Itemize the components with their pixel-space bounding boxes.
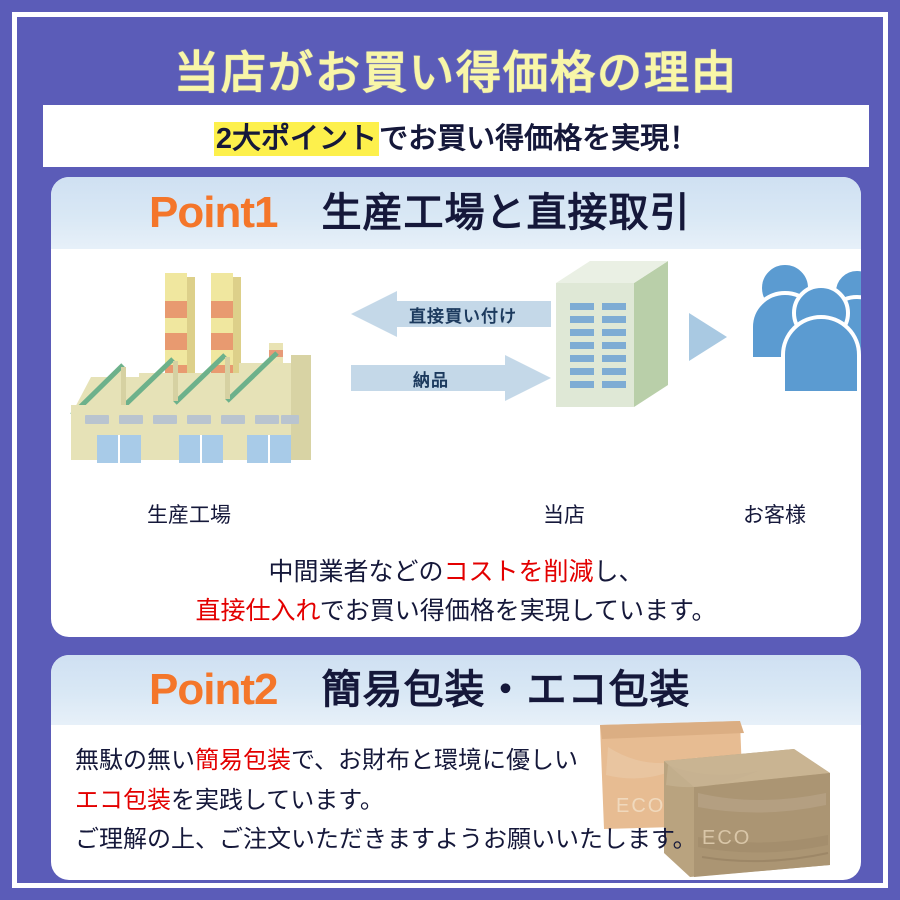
title-band: 当店がお買い得価格の理由 xyxy=(43,31,869,105)
p2-l1-red: 簡易包装 xyxy=(195,747,291,774)
point2-line3: ご理解の上、ご注文いただきますようお願いいたします。 xyxy=(75,820,861,860)
subtitle: 2大ポイントでお買い得価格を実現！ xyxy=(214,115,698,157)
point2-title: 簡易包装・エコ包装 xyxy=(321,670,690,710)
point1-label: Point1 xyxy=(149,191,277,235)
caption-factory: 生産工場 xyxy=(147,499,231,529)
delivery-arrow-label: 納品 xyxy=(351,355,551,401)
subtitle-band: 2大ポイントでお買い得価格を実現！ xyxy=(43,105,869,167)
subtitle-highlight: 2大ポイント xyxy=(214,122,379,156)
point2-text: 無駄の無い簡易包装で、お財布と環境に優しい エコ包装を実践しています。 ご理解の… xyxy=(75,741,861,860)
point1-description: 中間業者などのコストを削減し、 直接仕入れでお買い得価格を実現しています。 xyxy=(51,553,861,631)
point1-title: 生産工場と直接取引 xyxy=(321,193,690,233)
point1-description-line1: 中間業者などのコストを削減し、 xyxy=(51,553,861,592)
poster-stage: 当店がお買い得価格の理由 2大ポイントでお買い得価格を実現！ Point1 生産… xyxy=(17,17,895,895)
diagram-captions: 生産工場 当店 お客様 xyxy=(51,499,861,539)
p2-l1-pre: 無駄の無い xyxy=(75,747,195,774)
subtitle-rest: でお買い得価格を実現！ xyxy=(379,123,698,155)
buy-direct-arrow: 直接買い付け xyxy=(351,291,551,337)
caption-customer: お客様 xyxy=(743,499,806,529)
point2-header: Point2 簡易包装・エコ包装 xyxy=(51,655,861,725)
point1-header: Point1 生産工場と直接取引 xyxy=(51,177,861,249)
p1-l2-post: でお買い得価格を実現しています。 xyxy=(320,597,717,625)
p1-l2-red: 直接仕入れ xyxy=(195,597,319,625)
poster-inner-frame: 当店がお買い得価格の理由 2大ポイントでお買い得価格を実現！ Point1 生産… xyxy=(12,12,888,888)
buy-direct-arrow-label: 直接買い付け xyxy=(351,291,551,337)
point2-body: ECO ECO 無駄の無い簡易包装で、お財布と環境に優しい エコ包装を実践してい… xyxy=(51,725,861,880)
delivery-arrow: 納品 xyxy=(351,355,551,401)
factory-icon xyxy=(69,255,339,470)
point2-label: Point2 xyxy=(149,668,277,712)
p2-l2-red: エコ包装 xyxy=(75,787,171,814)
p2-l1-post: で、お財布と環境に優しい xyxy=(291,747,578,774)
caption-store: 当店 xyxy=(543,499,585,529)
p1-l1-red: コストを削減 xyxy=(443,558,593,586)
page-title: 当店がお買い得価格の理由 xyxy=(174,36,738,101)
point2-card: Point2 簡易包装・エコ包装 xyxy=(51,655,861,880)
flow-arrows: 直接買い付け 納品 xyxy=(351,291,551,401)
point2-line1: 無駄の無い簡易包装で、お財布と環境に優しい xyxy=(75,741,861,781)
point1-description-line2: 直接仕入れでお買い得価格を実現しています。 xyxy=(51,592,861,631)
store-icon xyxy=(556,259,668,409)
p1-l1-pre: 中間業者などの xyxy=(268,558,443,586)
supply-chain-diagram: 直接買い付け 納品 xyxy=(51,249,861,499)
to-customer-triangle-icon xyxy=(687,311,729,363)
poster-root: 当店がお買い得価格の理由 2大ポイントでお買い得価格を実現！ Point1 生産… xyxy=(0,0,900,900)
point2-line2: エコ包装を実践しています。 xyxy=(75,781,861,821)
p2-l2-post: を実践しています。 xyxy=(171,787,384,814)
p1-l1-post: し、 xyxy=(594,558,644,586)
point1-card: Point1 生産工場と直接取引 xyxy=(51,177,861,637)
customers-icon xyxy=(741,255,861,415)
